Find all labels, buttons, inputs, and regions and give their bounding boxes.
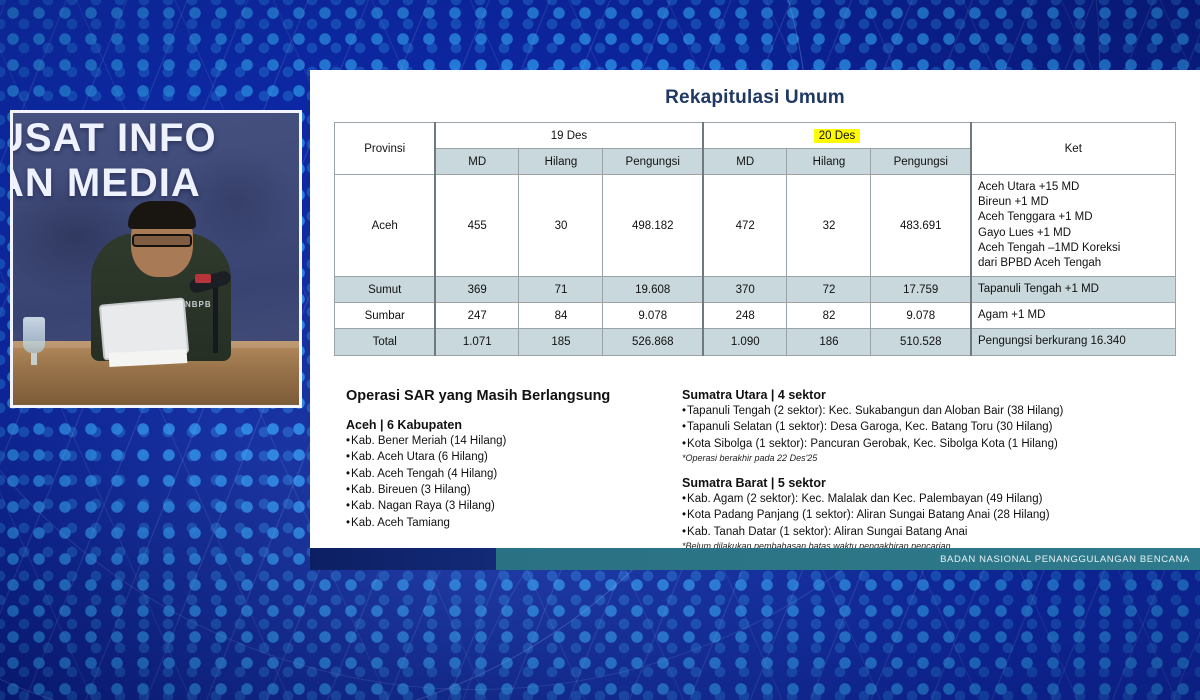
sar-list-aceh: Kab. Bener Meriah (14 Hilang) Kab. Aceh … (346, 433, 664, 531)
cell-20des-pengungsi: 483.691 (871, 175, 971, 277)
glasses-icon (132, 234, 192, 247)
footer-organization-label: BADAN NASIONAL PENANGGULANGAN BENCANA (940, 554, 1190, 565)
cell-19des-pengungsi: 9.078 (603, 303, 703, 329)
cell-19des-md: 1.071 (435, 329, 519, 355)
cell-19des-hilang: 30 (519, 175, 603, 277)
list-item: Kota Padang Panjang (1 sektor): Aliran S… (682, 507, 1174, 523)
video-inset[interactable]: USAT INFO AN MEDIA NBPB (10, 110, 302, 408)
list-item: Kab. Aceh Tengah (4 Hilang) (346, 466, 664, 482)
column-header-19des-pengungsi: Pengungsi (603, 149, 703, 175)
recapitulation-table: Provinsi 19 Des 20 Des Ket MD Hilang Pen… (334, 122, 1175, 356)
cell-provinsi: Total (335, 329, 435, 355)
cell-20des-md: 248 (703, 303, 787, 329)
table-row: Aceh 455 30 498.182 472 32 483.691 Aceh … (335, 175, 1175, 277)
cell-19des-pengungsi: 498.182 (603, 175, 703, 277)
cell-provinsi: Sumut (335, 277, 435, 303)
column-header-ket: Ket (971, 123, 1175, 175)
table-header-row-groups: Provinsi 19 Des 20 Des Ket (335, 123, 1175, 149)
uniform-badge (195, 274, 211, 283)
column-header-20des-hilang: Hilang (787, 149, 871, 175)
cell-19des-pengungsi: 526.868 (603, 329, 703, 355)
group-header-19-des-label: 19 Des (551, 130, 587, 142)
list-item: Kab. Aceh Tamiang (346, 515, 664, 531)
video-banner-text: USAT INFO AN MEDIA (10, 119, 302, 203)
footer-teal-segment: BADAN NASIONAL PENANGGULANGAN BENCANA (496, 548, 1200, 570)
cell-20des-md: 1.090 (703, 329, 787, 355)
list-item: Kab. Agam (2 sektor): Kec. Malalak dan K… (682, 491, 1174, 507)
cell-19des-hilang: 71 (519, 277, 603, 303)
sar-group-title-sumbar: Sumatra Barat | 5 sektor (682, 476, 1174, 490)
column-header-provinsi: Provinsi (335, 123, 435, 175)
cell-20des-hilang: 186 (787, 329, 871, 355)
cell-19des-hilang: 185 (519, 329, 603, 355)
cell-19des-md: 455 (435, 175, 519, 277)
list-item: Kab. Aceh Utara (6 Hilang) (346, 449, 664, 465)
table-body: Aceh 455 30 498.182 472 32 483.691 Aceh … (335, 175, 1175, 356)
cell-20des-md: 370 (703, 277, 787, 303)
column-header-19des-md: MD (435, 149, 519, 175)
sar-column-left: Operasi SAR yang Masih Berlangsung Aceh … (346, 388, 664, 548)
sar-group-title-sumut: Sumatra Utara | 4 sektor (682, 388, 1174, 402)
list-item: Tapanuli Selatan (1 sektor): Desa Garoga… (682, 419, 1174, 435)
column-header-19des-hilang: Hilang (519, 149, 603, 175)
table-row-total: Total 1.071 185 526.868 1.090 186 510.52… (335, 329, 1175, 355)
cell-20des-hilang: 72 (787, 277, 871, 303)
sar-list-sumbar: Kab. Agam (2 sektor): Kec. Malalak dan K… (682, 491, 1174, 540)
cell-ket: Pengungsi berkurang 16.340 (971, 329, 1175, 355)
sar-list-sumut: Tapanuli Tengah (2 sektor): Kec. Sukaban… (682, 403, 1174, 452)
cell-ket: Agam +1 MD (971, 303, 1175, 329)
cell-provinsi: Aceh (335, 175, 435, 277)
page-title: Rekapitulasi Umum (310, 70, 1200, 109)
list-item: Kab. Bireuen (3 Hilang) (346, 482, 664, 498)
list-item: Kab. Tanah Datar (1 sektor): Aliran Sung… (682, 524, 1174, 540)
video-banner-line1: USAT INFO (10, 116, 217, 160)
microphone-stand (213, 281, 218, 353)
list-item: Kab. Nagan Raya (3 Hilang) (346, 498, 664, 514)
group-header-20-des-label: 20 Des (814, 129, 860, 143)
broadcast-stage: USAT INFO AN MEDIA NBPB Rekapitulasi Umu… (0, 0, 1200, 700)
cell-20des-hilang: 32 (787, 175, 871, 277)
sar-group-title-aceh: Aceh | 6 Kabupaten (346, 418, 664, 432)
column-header-20des-pengungsi: Pengungsi (871, 149, 971, 175)
cell-19des-pengungsi: 19.608 (603, 277, 703, 303)
cell-20des-pengungsi: 9.078 (871, 303, 971, 329)
column-header-20des-md: MD (703, 149, 787, 175)
cell-19des-md: 247 (435, 303, 519, 329)
table-row: Sumbar 247 84 9.078 248 82 9.078 Agam +1… (335, 303, 1175, 329)
sar-note-sumut: *Operasi berakhir pada 22 Des'25 (682, 453, 1174, 463)
cell-20des-hilang: 82 (787, 303, 871, 329)
sar-column-right: Sumatra Utara | 4 sektor Tapanuli Tengah… (682, 388, 1174, 548)
cell-ket: Tapanuli Tengah +1 MD (971, 277, 1175, 303)
list-item: Kota Sibolga (1 sektor): Pancuran Geroba… (682, 436, 1174, 452)
uniform-label: NBPB (185, 300, 212, 309)
cell-19des-md: 369 (435, 277, 519, 303)
list-item: Tapanuli Tengah (2 sektor): Kec. Sukaban… (682, 403, 1174, 419)
cell-ket: Aceh Utara +15 MDBireun +1 MDAceh Tengga… (971, 175, 1175, 277)
video-banner-line2: AN MEDIA (10, 164, 302, 203)
sar-operations-section: Operasi SAR yang Masih Berlangsung Aceh … (310, 388, 1200, 548)
group-header-19-des: 19 Des (435, 123, 703, 149)
presentation-slide: Rekapitulasi Umum Provinsi 19 Des 20 Des (310, 70, 1200, 570)
cell-provinsi: Sumbar (335, 303, 435, 329)
cell-20des-md: 472 (703, 175, 787, 277)
water-glass (23, 317, 45, 353)
group-header-20-des: 20 Des (703, 123, 971, 149)
cell-19des-hilang: 84 (519, 303, 603, 329)
list-item: Kab. Bener Meriah (14 Hilang) (346, 433, 664, 449)
slide-footer-bar: BADAN NASIONAL PENANGGULANGAN BENCANA (310, 548, 1200, 570)
cell-20des-pengungsi: 17.759 (871, 277, 971, 303)
table-row: Sumut 369 71 19.608 370 72 17.759 Tapanu… (335, 277, 1175, 303)
video-speaker-hair (128, 201, 196, 229)
footer-navy-segment (310, 548, 496, 570)
table-head: Provinsi 19 Des 20 Des Ket MD Hilang Pen… (335, 123, 1175, 175)
sar-heading: Operasi SAR yang Masih Berlangsung (346, 388, 664, 404)
cell-20des-pengungsi: 510.528 (871, 329, 971, 355)
